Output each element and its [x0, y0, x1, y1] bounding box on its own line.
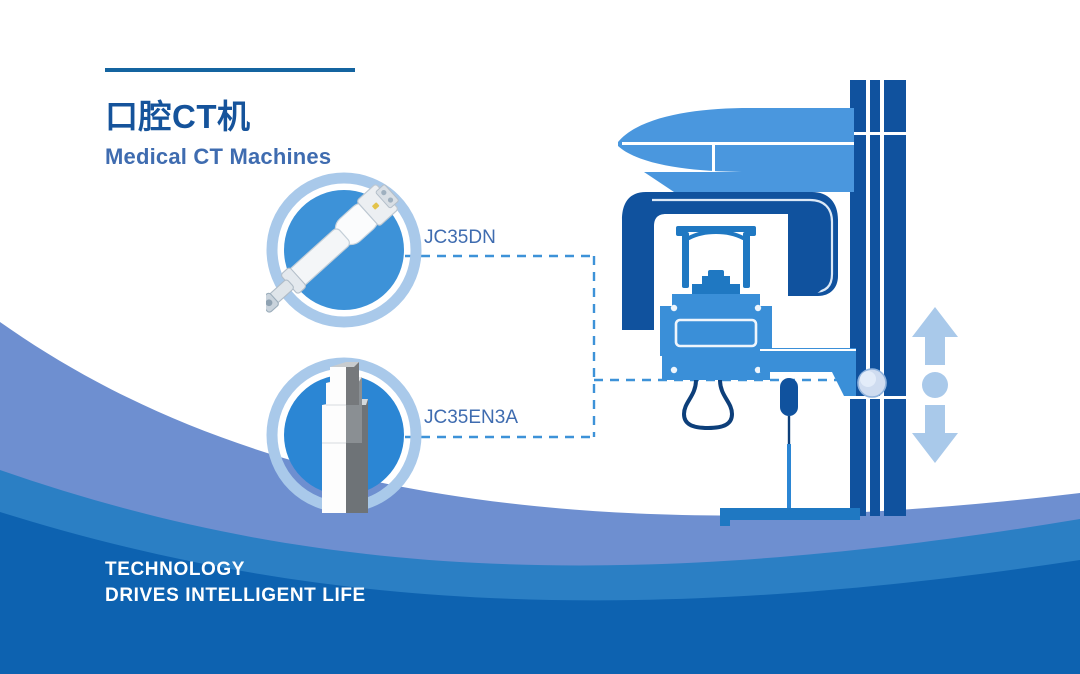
page-title-cn: 口腔CT机: [105, 98, 355, 136]
arrow-down-icon: [912, 405, 958, 463]
lifting-column-illustration: [322, 362, 368, 513]
machine-head-support-frame: [676, 226, 756, 294]
vertical-travel-indicator: [900, 305, 970, 465]
header-block: 口腔CT机 Medical CT Machines: [105, 68, 355, 170]
page-title-en: Medical CT Machines: [105, 144, 355, 170]
machine-top-arm: [618, 108, 854, 192]
tagline-line-2: DRIVES INTELLIGENT LIFE: [105, 583, 366, 609]
product-node-jc35en3a[interactable]: [266, 357, 422, 513]
poster-canvas: 口腔CT机 Medical CT Machines: [0, 0, 1080, 674]
arrow-up-icon: [912, 307, 958, 365]
ct-machine-illustration: [600, 80, 930, 600]
machine-column-slider: [858, 369, 886, 397]
title-underline-rule: [105, 68, 355, 72]
product-node-jc35dn[interactable]: [266, 172, 422, 328]
tagline-block: TECHNOLOGY DRIVES INTELLIGENT LIFE: [105, 557, 366, 608]
machine-vertical-column: [850, 80, 906, 516]
callout-label-jc35dn: JC35DN: [424, 227, 496, 249]
machine-base-plate: [720, 508, 860, 526]
callout-label-jc35en3a: JC35EN3A: [424, 407, 518, 429]
machine-chin-cup: [684, 380, 732, 428]
machine-hand-pendant: [780, 378, 798, 520]
tagline-line-1: TECHNOLOGY: [105, 557, 366, 583]
travel-center-dot: [922, 372, 948, 398]
machine-chin-rest-assembly: [660, 294, 772, 380]
machine-handle-bar: [760, 348, 856, 396]
